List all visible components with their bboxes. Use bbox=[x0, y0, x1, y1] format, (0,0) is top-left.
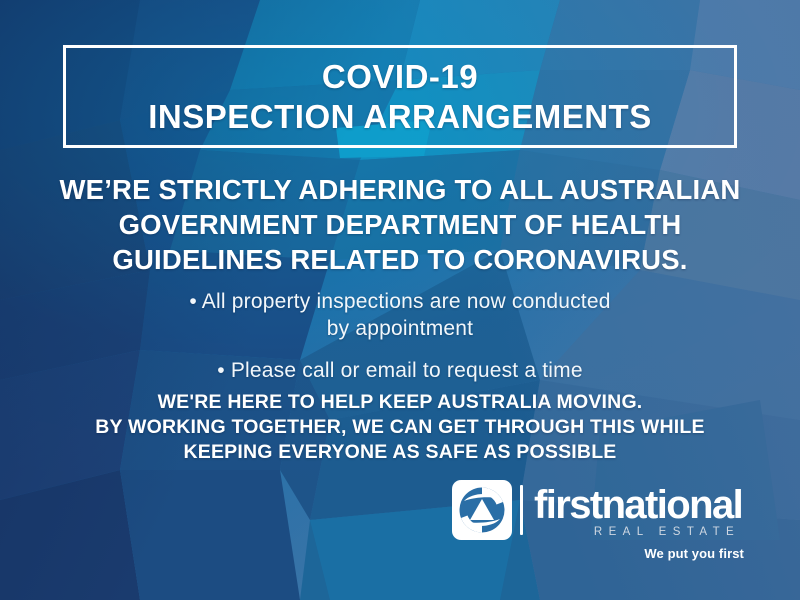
title-line-2: INSPECTION ARRANGEMENTS bbox=[148, 97, 651, 137]
covid-inspection-poster: COVID-19 INSPECTION ARRANGEMENTS WE’RE S… bbox=[0, 0, 800, 600]
brand-logo: firstnational REAL ESTATE We put you fir… bbox=[452, 480, 752, 570]
headline-line-2: GOVERNMENT DEPARTMENT OF HEALTH bbox=[0, 207, 800, 242]
logo-row: firstnational REAL ESTATE bbox=[452, 480, 742, 540]
title-line-1: COVID-19 bbox=[322, 57, 478, 97]
headline-line-3: GUIDELINES RELATED TO CORONAVIRUS. bbox=[0, 242, 800, 277]
logo-wordmark-text: firstnational bbox=[534, 485, 742, 525]
bullet-list: • All property inspections are now condu… bbox=[0, 288, 800, 384]
headline-block: WE’RE STRICTLY ADHERING TO ALL AUSTRALIA… bbox=[0, 172, 800, 277]
closing-line-1: WE'RE HERE TO HELP KEEP AUSTRALIA MOVING… bbox=[0, 390, 800, 415]
headline-line-1: WE’RE STRICTLY ADHERING TO ALL AUSTRALIA… bbox=[0, 172, 800, 207]
poster-content: COVID-19 INSPECTION ARRANGEMENTS WE’RE S… bbox=[0, 0, 800, 600]
logo-subtitle: REAL ESTATE bbox=[534, 526, 742, 538]
logo-wordmark-group: firstnational REAL ESTATE bbox=[534, 483, 742, 538]
bullet-item-1-continued: by appointment bbox=[0, 315, 800, 342]
bullet-item-1: • All property inspections are now condu… bbox=[0, 288, 800, 315]
closing-line-2: BY WORKING TOGETHER, WE CAN GET THROUGH … bbox=[0, 415, 800, 440]
bullet-spacer bbox=[0, 342, 800, 357]
logo-divider bbox=[520, 485, 523, 535]
first-national-swoosh-triangle-icon bbox=[452, 480, 512, 540]
logo-tagline: We put you first bbox=[644, 546, 744, 561]
closing-line-3: KEEPING EVERYONE AS SAFE AS POSSIBLE bbox=[0, 440, 800, 465]
title-frame: COVID-19 INSPECTION ARRANGEMENTS bbox=[63, 45, 737, 148]
closing-block: WE'RE HERE TO HELP KEEP AUSTRALIA MOVING… bbox=[0, 390, 800, 465]
bullet-item-2: • Please call or email to request a time bbox=[0, 357, 800, 384]
